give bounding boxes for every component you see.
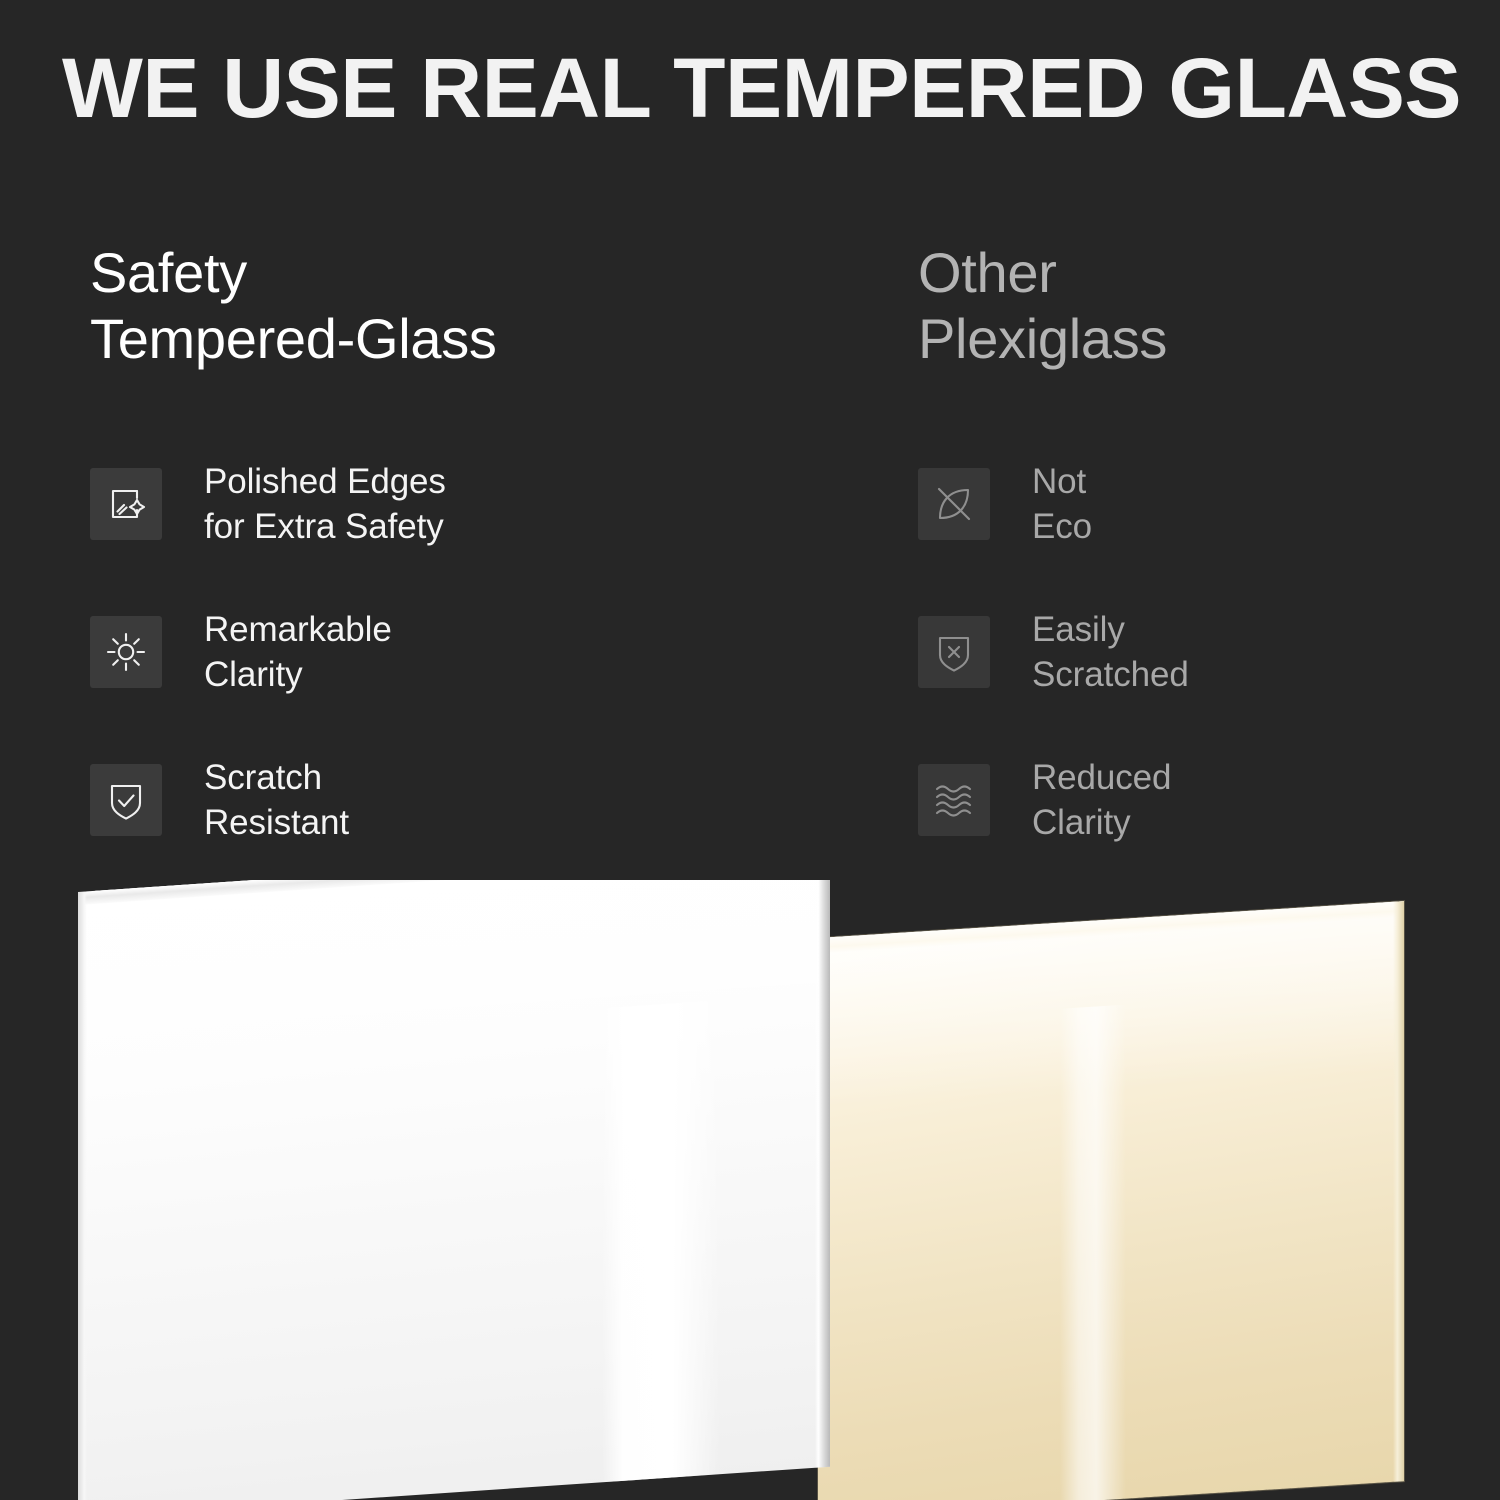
sun-brightness-icon — [90, 616, 162, 688]
feature-row: Not Eco — [918, 468, 1478, 540]
wavy-lines-icon — [918, 764, 990, 836]
leaf-slashed-icon — [918, 468, 990, 540]
plexiglass-right-edge — [1393, 901, 1404, 1482]
infographic-canvas: WE USE REAL TEMPERED GLASS Safety Temper… — [0, 0, 1500, 1500]
feature-list-tempered-glass: Polished Edges for Extra Safety — [90, 468, 850, 836]
comparison-column-tempered-glass: Safety Tempered-Glass Polished Edges for… — [90, 240, 850, 372]
feature-label: Polished Edges for Extra Safety — [204, 459, 446, 550]
feature-label: Scratch Resistant — [204, 755, 349, 846]
feature-label: Not Eco — [1032, 459, 1092, 550]
column-title-tempered-glass: Safety Tempered-Glass — [90, 240, 850, 372]
page-title: WE USE REAL TEMPERED GLASS — [62, 46, 1480, 130]
feature-row: Polished Edges for Extra Safety — [90, 468, 850, 540]
shield-x-icon — [918, 616, 990, 688]
product-comparison-image — [0, 880, 1500, 1500]
feature-row: Reduced Clarity — [918, 764, 1478, 836]
comparison-column-plexiglass: Other Plexiglass Not Eco — [918, 240, 1478, 372]
glass-reflection-band — [602, 1000, 720, 1482]
feature-list-plexiglass: Not Eco Easily Scratched — [918, 468, 1478, 836]
glass-polished-right-edge — [815, 880, 830, 1468]
yellowed-plexiglass-panel — [818, 901, 1404, 1500]
feature-label: Remarkable Clarity — [204, 607, 392, 698]
feature-label: Easily Scratched — [1032, 607, 1189, 698]
glass-polished-left-edge — [78, 891, 87, 1500]
column-title-plexiglass: Other Plexiglass — [918, 240, 1478, 372]
glass-pane-sparkle-icon — [90, 468, 162, 540]
feature-row: Remarkable Clarity — [90, 616, 850, 688]
feature-row: Easily Scratched — [918, 616, 1478, 688]
plexiglass-reflection-band — [1060, 1005, 1126, 1500]
feature-row: Scratch Resistant — [90, 764, 850, 836]
feature-label: Reduced Clarity — [1032, 755, 1171, 846]
shield-check-icon — [90, 764, 162, 836]
tempered-glass-panel — [78, 880, 830, 1500]
